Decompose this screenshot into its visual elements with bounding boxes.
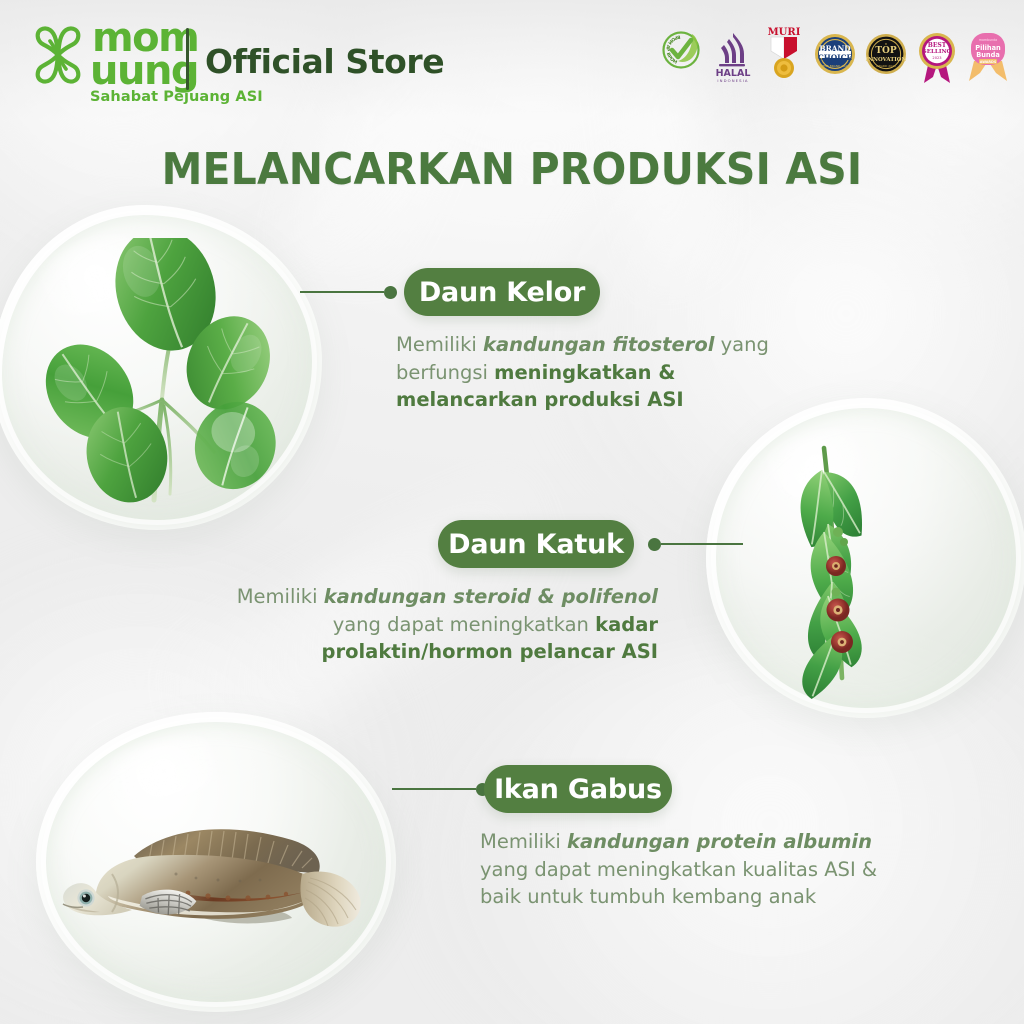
svg-text:TOP: TOP bbox=[875, 46, 897, 56]
svg-text:SELLING: SELLING bbox=[923, 49, 952, 55]
katuk-flower bbox=[831, 631, 853, 653]
top-innovation-badge: TOP INNOVATION AWARD 2023 ★ bbox=[864, 21, 908, 85]
svg-text:INDONESIA: INDONESIA bbox=[717, 78, 748, 83]
svg-text:AWARDS: AWARDS bbox=[980, 60, 997, 64]
promo-banner: mom uung Sahabat Pejuang ASI Official St… bbox=[0, 0, 1024, 1024]
svg-text:CHOICE: CHOICE bbox=[818, 53, 853, 62]
page-title: MELANCARKAN PRODUKSI ASI bbox=[36, 144, 988, 195]
description-ikan-gabus: Memiliki kandungan protein albumin yang … bbox=[480, 828, 920, 911]
best-selling-badge: BEST SELLING 2023 bbox=[915, 21, 959, 85]
svg-text:Bunda: Bunda bbox=[976, 51, 1000, 59]
svg-text:MURI: MURI bbox=[768, 27, 801, 38]
desc-lead: Memiliki bbox=[237, 585, 324, 608]
svg-text:BEST BRAND 2022: BEST BRAND 2022 bbox=[821, 64, 849, 68]
header-divider bbox=[186, 28, 189, 90]
katuk-leaves-illustration bbox=[732, 420, 1012, 700]
logo-tagline: Sahabat Pejuang ASI bbox=[90, 89, 263, 105]
connector-dot bbox=[648, 538, 661, 551]
svg-text:AWARD 2023: AWARD 2023 bbox=[876, 64, 896, 68]
connector-line bbox=[300, 291, 384, 293]
description-daun-katuk: Memiliki kandungan steroid & polifenol y… bbox=[186, 583, 658, 666]
certification-badges: BPOM APPROVED BPOM bbox=[660, 21, 1010, 85]
moringa-leaves-illustration bbox=[30, 238, 310, 508]
svg-text:mombunda: mombunda bbox=[979, 38, 997, 42]
svg-text:BEST: BEST bbox=[928, 42, 947, 49]
label-daun-kelor[interactable]: Daun Kelor bbox=[404, 268, 600, 316]
muri-badge: MURI bbox=[762, 21, 806, 85]
katuk-flower bbox=[826, 556, 846, 576]
desc-italic: kandungan fitosterol bbox=[483, 333, 714, 356]
katuk-flower bbox=[827, 599, 850, 622]
brand-choice-badge: BRAND CHOICE BEST BRAND 2022 bbox=[813, 21, 857, 85]
description-daun-kelor: Memiliki kandungan fitosterol yang berfu… bbox=[396, 331, 796, 414]
pilihan-bunda-badge: mombunda Pilihan Bunda AWARDS bbox=[966, 21, 1010, 85]
official-store-label: Official Store bbox=[205, 42, 444, 81]
header: mom uung Sahabat Pejuang ASI Official St… bbox=[0, 0, 1024, 120]
desc-lead: Memiliki bbox=[480, 830, 567, 853]
svg-text:★: ★ bbox=[885, 42, 888, 46]
momuung-infinity-logo-icon bbox=[30, 24, 86, 86]
label-daun-katuk[interactable]: Daun Katuk bbox=[438, 520, 634, 568]
desc-italic: kandungan steroid & polifenol bbox=[324, 585, 658, 608]
connector-line bbox=[661, 543, 743, 545]
desc-lead: Memiliki bbox=[396, 333, 483, 356]
connector-daun-katuk bbox=[648, 537, 743, 551]
svg-text:BRAND: BRAND bbox=[819, 44, 851, 53]
snakehead-fish-illustration bbox=[56, 800, 376, 955]
bpom-approved-badge: BPOM APPROVED BPOM bbox=[660, 21, 704, 85]
halal-indonesia-badge: HALAL INDONESIA bbox=[711, 21, 755, 85]
label-ikan-gabus[interactable]: Ikan Gabus bbox=[484, 765, 672, 813]
connector-line bbox=[392, 788, 476, 790]
desc-middle: yang dapat meningkatkan bbox=[333, 613, 595, 636]
connector-ikan-gabus bbox=[392, 782, 489, 796]
connector-dot bbox=[384, 286, 397, 299]
desc-italic: kandungan protein albumin bbox=[567, 830, 872, 853]
svg-text:INNOVATION: INNOVATION bbox=[866, 57, 907, 63]
svg-text:2023: 2023 bbox=[932, 56, 941, 60]
desc-middle: yang dapat meningkatkan kualitas ASI & b… bbox=[480, 858, 877, 909]
connector-daun-kelor bbox=[300, 285, 397, 299]
